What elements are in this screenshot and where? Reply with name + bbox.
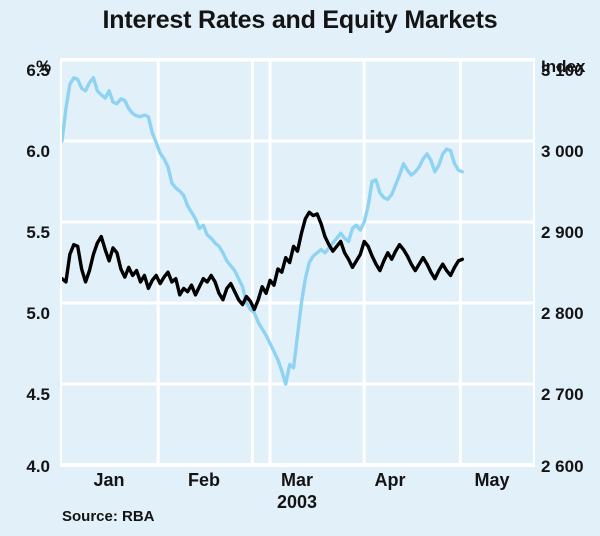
series-line-asx	[62, 78, 462, 384]
x-axis-tick: Jan	[64, 470, 154, 491]
source-note: Source: RBA	[62, 508, 155, 525]
series-line-bond	[62, 212, 462, 309]
x-axis-tick: Apr	[345, 470, 435, 491]
left-axis-tick: 6.5	[4, 61, 50, 81]
left-axis-tick: 4.0	[4, 457, 50, 477]
right-axis-tick: 2 700	[541, 385, 600, 405]
x-axis-label-year: 2003	[252, 492, 342, 513]
x-axis-tick: May	[447, 470, 537, 491]
right-axis-tick: 3 000	[541, 142, 600, 162]
left-axis-tick: 4.5	[4, 385, 50, 405]
right-axis-tick: 3 100	[541, 61, 600, 81]
right-axis-tick: 2 900	[541, 223, 600, 243]
left-axis-tick: 6.0	[4, 142, 50, 162]
chart-title: Interest Rates and Equity Markets	[0, 6, 600, 35]
right-axis-tick: 2 800	[541, 304, 600, 324]
left-axis-tick: 5.0	[4, 304, 50, 324]
right-axis-tick: 2 600	[541, 457, 600, 477]
plot-svg	[62, 60, 533, 465]
x-axis-tick: Feb	[159, 470, 249, 491]
horizontal-gridlines	[62, 60, 533, 465]
chart-container: Interest Rates and Equity Markets % Inde…	[0, 0, 600, 536]
x-axis-tick: Mar	[252, 470, 342, 491]
plot-area	[60, 58, 535, 467]
left-axis-tick: 5.5	[4, 223, 50, 243]
